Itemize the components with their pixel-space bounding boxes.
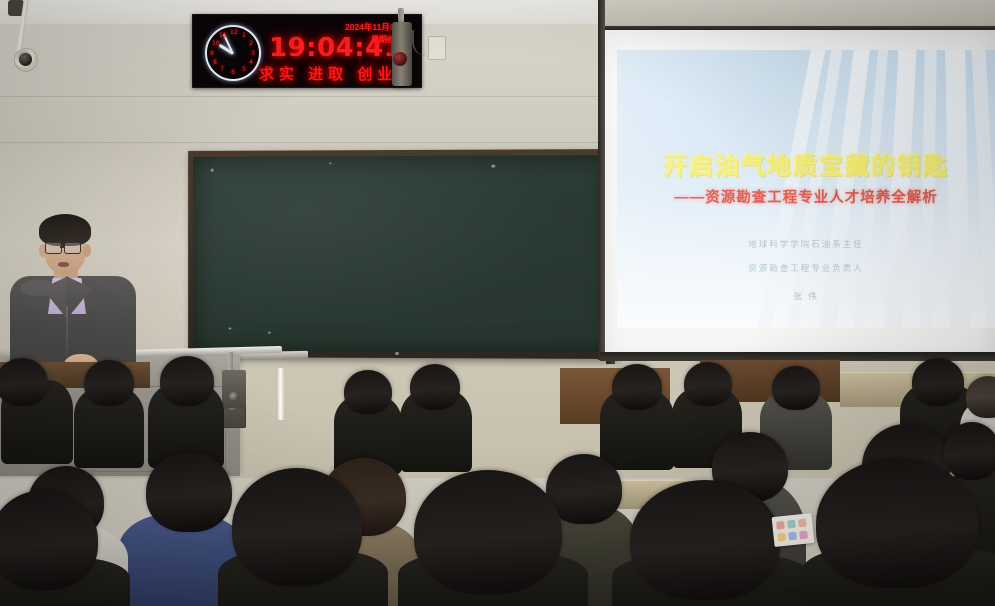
audience: MA (0, 362, 995, 606)
app-icon[interactable] (777, 533, 786, 542)
slide-presenter-line: 资源勘查工程专业负责人 (617, 262, 995, 274)
led-motto-text: 求实 进取 创业 (259, 63, 397, 84)
chalk-speck (268, 332, 271, 334)
chalk-speck (211, 169, 214, 172)
clock-tick: 5 (241, 66, 247, 73)
presentation-slide: 开启油气地质宝藏的钥匙 ——资源勘查工程专业人才培养全解析 地球科学学院石油系主… (617, 50, 995, 328)
clock-tick: 4 (248, 59, 254, 66)
clock-tick: 12 (230, 29, 236, 36)
audience-head (772, 366, 820, 410)
slide-title: 开启油气地质宝藏的钥匙 (617, 146, 995, 181)
audience-head (146, 452, 232, 532)
audience-head (612, 364, 662, 410)
audience-head (84, 360, 134, 406)
chalk-speck (395, 352, 399, 355)
app-icon[interactable] (788, 532, 797, 541)
projection-screen: 开启油气地质宝藏的钥匙 ——资源勘查工程专业人才培养全解析 地球科学学院石油系主… (605, 30, 995, 360)
lecture-hall-photo: 12 1 2 3 4 5 6 7 8 9 10 11 19:04:41 2024… (0, 0, 995, 606)
chalk-speck (491, 165, 495, 168)
glasses-icon (64, 242, 81, 254)
wall-seam (0, 96, 620, 97)
glasses-icon (45, 242, 62, 254)
wall-outlet (428, 36, 446, 60)
speaker-cone-icon (393, 52, 407, 66)
slide-presenter-name: 张 伟 (617, 290, 995, 302)
chalk-speck (228, 327, 231, 329)
audience-head (966, 376, 995, 418)
glasses-bridge (60, 246, 65, 248)
clock-tick: 11 (219, 32, 225, 39)
audience-head (410, 364, 460, 410)
audience-head (232, 468, 362, 586)
presenter (8, 206, 138, 378)
clock-tick: 3 (250, 50, 256, 57)
blackboard-surface (193, 155, 611, 352)
clock-tick: 6 (230, 69, 236, 76)
wall-seam (0, 142, 620, 143)
blackboard (188, 149, 618, 359)
audience-head (0, 490, 98, 590)
smartphone-screen[interactable] (772, 513, 815, 547)
audience-head (630, 480, 780, 600)
audience-head (684, 362, 732, 406)
clock-tick: 7 (219, 66, 225, 73)
clock-tick: 8 (212, 59, 218, 66)
led-clock-board: 12 1 2 3 4 5 6 7 8 9 10 11 19:04:41 2024… (192, 14, 422, 88)
clock-tick: 2 (248, 40, 254, 47)
audience-head (912, 358, 964, 406)
camera-lens-icon (19, 53, 32, 66)
app-icon[interactable] (798, 519, 807, 528)
audience-head (414, 470, 562, 594)
app-icon[interactable] (799, 531, 808, 540)
app-icon[interactable] (787, 520, 796, 529)
audience-head (160, 356, 214, 406)
clock-tick: 10 (212, 40, 218, 47)
slide-subtitle: ——资源勘查工程专业人才培养全解析 (617, 186, 995, 207)
projection-screen-left-rail (598, 0, 605, 360)
app-icon[interactable] (776, 521, 785, 530)
presenter-mouth (58, 262, 69, 267)
audience-head (944, 422, 995, 480)
audience-head (816, 458, 978, 588)
analog-clock-icon: 12 1 2 3 4 5 6 7 8 9 10 11 (205, 25, 261, 81)
audience-head (0, 358, 48, 406)
presenter-ear (83, 244, 91, 257)
clock-tick: 9 (209, 50, 215, 57)
clock-tick: 1 (241, 32, 247, 39)
chalk-speck (329, 162, 331, 164)
audience-head (344, 370, 392, 414)
slide-presenter-line: 地球科学学院石油系主任 (617, 238, 995, 250)
